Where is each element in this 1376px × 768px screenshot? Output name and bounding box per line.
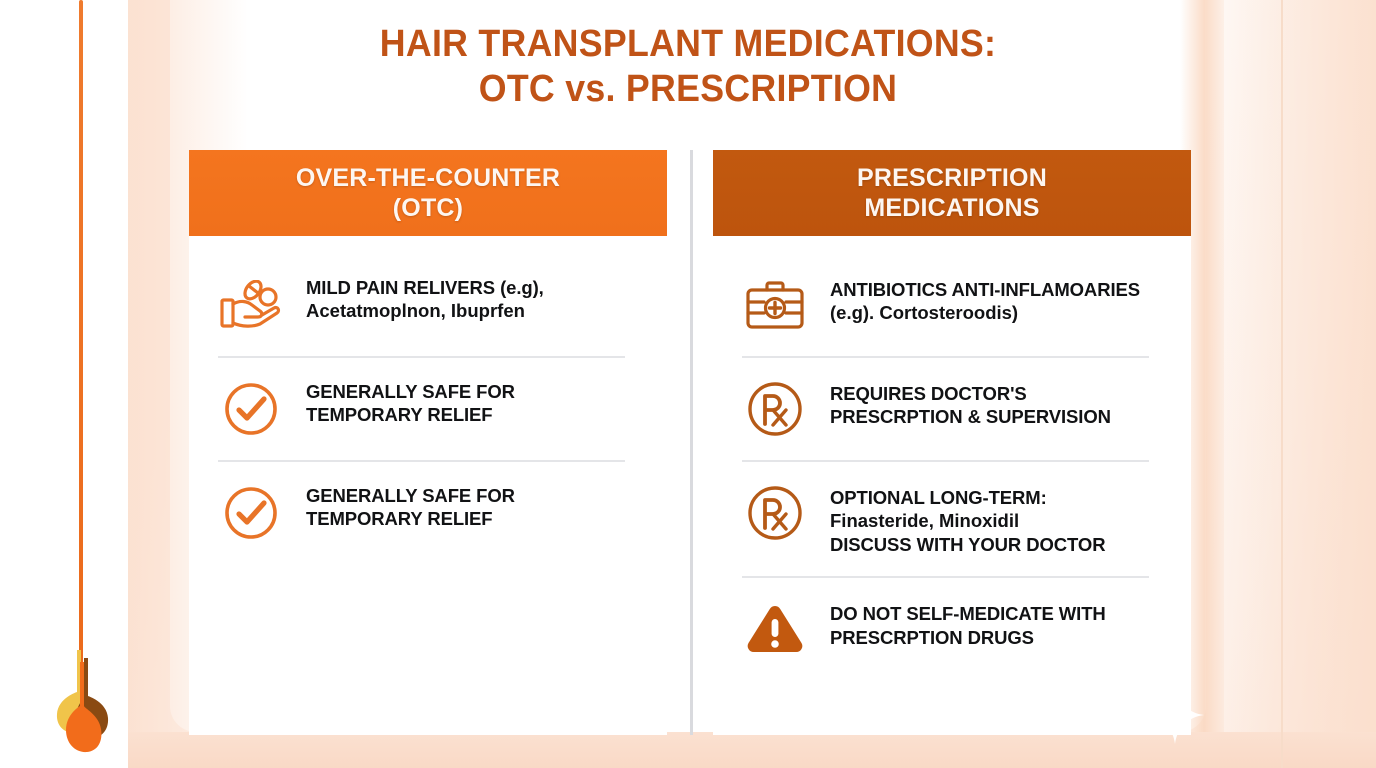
list-item-line: (e.g). Cortosteroodis) [830, 302, 1018, 323]
list-item-line: PRESCRPTION & SUPERVISION [830, 406, 1111, 427]
background-right-fade [1226, 0, 1376, 768]
list-item[interactable]: GENERALLY SAFE FOR TEMPORARY RELIEF [189, 358, 667, 460]
warning-triangle-icon [742, 598, 808, 660]
list-item-line: Finasteride, Minoxidil [830, 510, 1019, 531]
list-item-line: PRESCRPTION DRUGS [830, 627, 1034, 648]
list-item-line: OPTIONAL LONG-TERM: [830, 487, 1047, 508]
list-item-text: ANTIBIOTICS ANTI-INFLAMOARIES (e.g). Cor… [830, 274, 1169, 325]
list-item[interactable]: REQUIRES DOCTOR'S PRESCRPTION & SUPERVIS… [713, 358, 1191, 460]
list-item-line: TEMPORARY RELIEF [306, 508, 493, 529]
list-item-text: GENERALLY SAFE FOR TEMPORARY RELIEF [306, 482, 645, 531]
list-item-line: MILD PAIN RELIVERS (e.g), [306, 277, 544, 298]
column-otc-header-line1: OVER-THE-COUNTER [296, 164, 560, 192]
list-item-line: ANTI-INFLAMOARIES [952, 279, 1140, 300]
column-prescription-header: PRESCRIPTION MEDICATIONS [713, 150, 1191, 236]
column-prescription-body: ANTIBIOTICS ANTI-INFLAMOARIES (e.g). Cor… [713, 236, 1191, 680]
column-prescription-header-line1: PRESCRIPTION [857, 164, 1047, 192]
list-item-text: GENERALLY SAFE FOR TEMPORARY RELIEF [306, 378, 645, 427]
medical-kit-icon [742, 274, 808, 336]
list-item[interactable]: GENERALLY SAFE FOR TEMPORARY RELIEF [189, 462, 667, 564]
rx-circle-icon [742, 482, 808, 544]
list-item[interactable]: OPTIONAL LONG-TERM: Finasteride, Minoxid… [713, 462, 1191, 576]
background-hairline-right [1281, 0, 1283, 768]
column-prescription-header-line2: MEDICATIONS [864, 194, 1039, 222]
hand-with-pills-icon [218, 274, 284, 336]
list-item-line: DISCUSS WITH YOUR DOCTOR [830, 534, 1105, 555]
list-item-line: DO NOT SELF-MEDICATE WITH [830, 603, 1106, 624]
comparison-columns: OVER-THE-COUNTER (OTC) MILD PA [189, 150, 1191, 735]
rx-circle-icon [742, 378, 808, 440]
list-item-text: REQUIRES DOCTOR'S PRESCRPTION & SUPERVIS… [830, 378, 1169, 429]
list-item-text: OPTIONAL LONG-TERM: Finasteride, Minoxid… [830, 482, 1169, 556]
column-otc-header-line2: (OTC) [393, 194, 463, 222]
list-item-line: ANTIBIOTICS [830, 279, 947, 300]
check-circle-icon [218, 378, 284, 440]
page-title-line1: HAIR TRANSPLANT MEDICATIONS: [380, 23, 996, 65]
column-otc-body: MILD PAIN RELIVERS (e.g), Acetatmoplnon,… [189, 236, 667, 564]
list-item-line: Acetatmoplnon, Ibuprfen [306, 300, 525, 321]
column-otc: OVER-THE-COUNTER (OTC) MILD PA [189, 150, 667, 735]
check-circle-icon [218, 482, 284, 544]
hair-follicle-icon [44, 648, 136, 760]
column-prescription: PRESCRIPTION MEDICATIONS ANTIBIOTICS [713, 150, 1191, 735]
list-item-line: REQUIRES DOCTOR'S [830, 383, 1027, 404]
list-item[interactable]: ANTIBIOTICS ANTI-INFLAMOARIES (e.g). Cor… [713, 254, 1191, 356]
page-title-line2: OTC vs. PRESCRIPTION [41, 67, 1334, 112]
list-item-line: GENERALLY SAFE FOR [306, 381, 515, 402]
list-item-line: GENERALLY SAFE FOR [306, 485, 515, 506]
list-item[interactable]: DO NOT SELF-MEDICATE WITH PRESCRPTION DR… [713, 578, 1191, 680]
page-title: HAIR TRANSPLANT MEDICATIONS: OTC vs. PRE… [41, 22, 1334, 112]
list-item-text: DO NOT SELF-MEDICATE WITH PRESCRPTION DR… [830, 598, 1169, 649]
column-otc-header: OVER-THE-COUNTER (OTC) [189, 150, 667, 236]
list-item-text: MILD PAIN RELIVERS (e.g), Acetatmoplnon,… [306, 274, 645, 323]
column-divider [690, 150, 693, 735]
list-item[interactable]: MILD PAIN RELIVERS (e.g), Acetatmoplnon,… [189, 254, 667, 356]
list-item-line: TEMPORARY RELIEF [306, 404, 493, 425]
